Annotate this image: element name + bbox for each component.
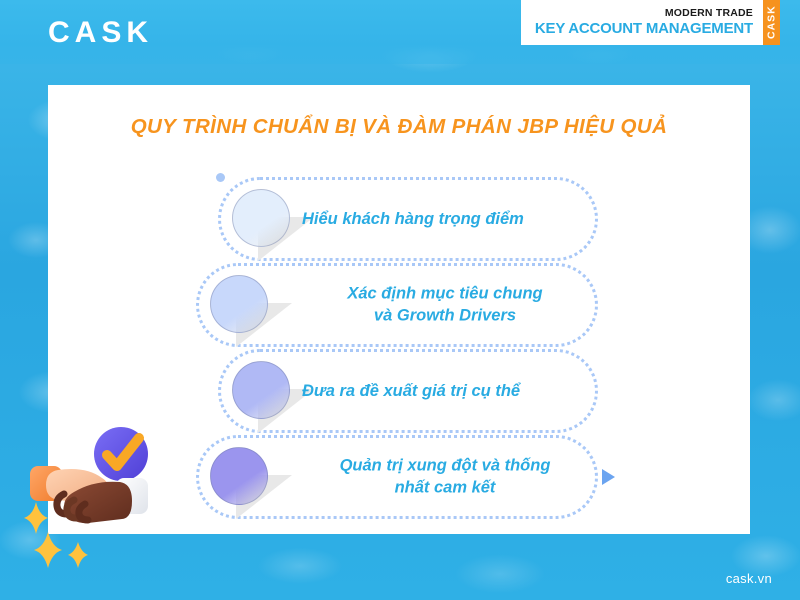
badge-cask-strip: CASK xyxy=(763,0,780,45)
slide-canvas: CASK MODERN TRADE KEY ACCOUNT MANAGEMENT… xyxy=(0,0,800,600)
step-label-4: Quản trị xung đột và thống nhất cam kết xyxy=(280,455,610,500)
sparkle-icon-2 xyxy=(34,532,62,568)
badge-line-key-account-management: KEY ACCOUNT MANAGEMENT xyxy=(535,20,753,37)
badge-text-block: MODERN TRADE KEY ACCOUNT MANAGEMENT xyxy=(521,0,763,45)
page-title: QUY TRÌNH CHUẨN BỊ VÀ ĐÀM PHÁN JBP HIỆU … xyxy=(48,115,750,139)
process-step-4[interactable]: Quản trị xung đột và thống nhất cam kết xyxy=(196,435,598,519)
sparkle-icon-3 xyxy=(68,542,88,568)
sparkle-icon-1 xyxy=(24,502,48,534)
modern-trade-badge: MODERN TRADE KEY ACCOUNT MANAGEMENT CASK xyxy=(521,0,780,45)
sparkle-group xyxy=(16,498,126,568)
step-circle-2 xyxy=(210,275,268,333)
badge-line-modern-trade: MODERN TRADE xyxy=(665,8,753,20)
step-label-3: Đưa ra đề xuất giá trị cụ thể xyxy=(302,380,632,402)
step-circle-4 xyxy=(210,447,268,505)
step-circle-1 xyxy=(232,189,290,247)
process-step-3[interactable]: Đưa ra đề xuất giá trị cụ thể xyxy=(218,349,598,433)
step-circle-3 xyxy=(232,361,290,419)
step-label-2: Xác định mục tiêu chung và Growth Driver… xyxy=(280,283,610,328)
step-label-1: Hiểu khách hàng trọng điểm xyxy=(302,208,632,230)
process-step-2[interactable]: Xác định mục tiêu chung và Growth Driver… xyxy=(196,263,598,347)
process-step-1[interactable]: Hiểu khách hàng trọng điểm xyxy=(218,177,598,261)
site-url: cask.vn xyxy=(726,571,772,586)
cask-logo: CASK xyxy=(48,16,153,50)
